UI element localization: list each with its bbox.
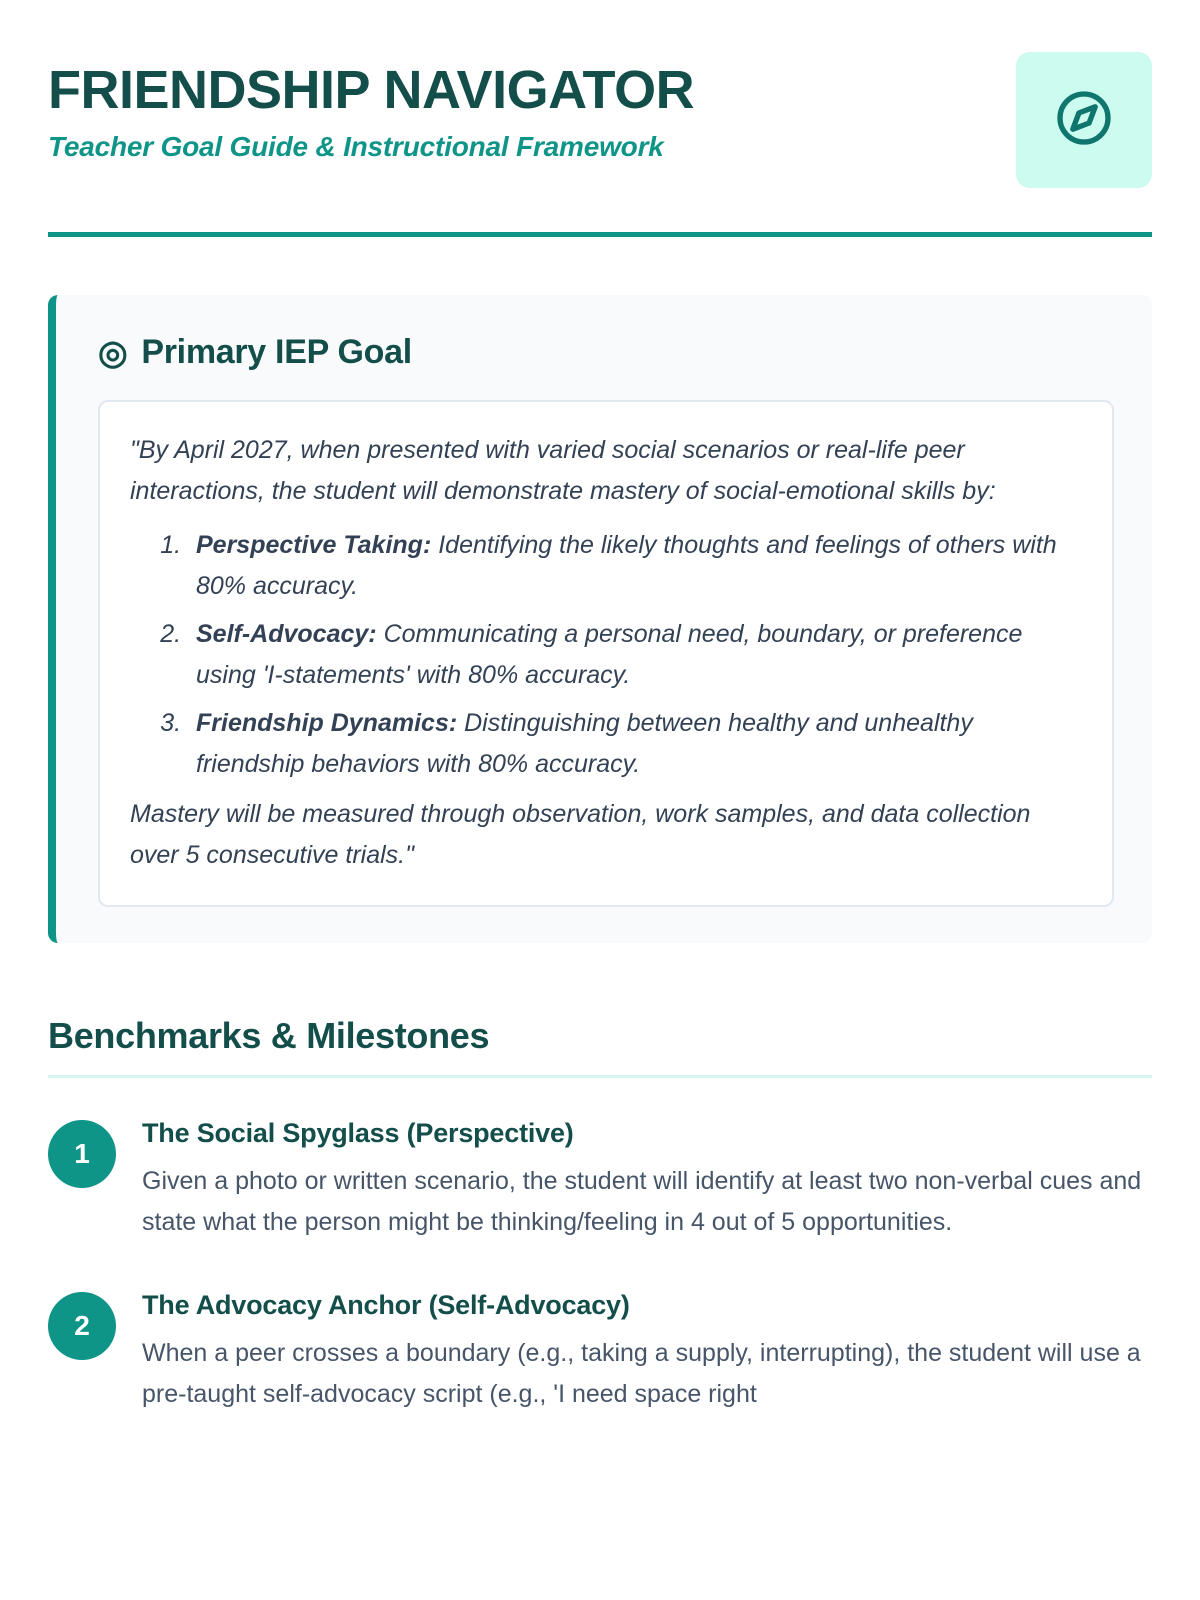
page-header: FRIENDSHIP NAVIGATOR Teacher Goal Guide …	[48, 0, 1152, 188]
goal-skill-item: Friendship Dynamics: Distinguishing betw…	[188, 703, 1082, 784]
header-divider	[48, 232, 1152, 237]
target-icon: ◎	[98, 336, 127, 370]
benchmark-item: 2 The Advocacy Anchor (Self-Advocacy) Wh…	[48, 1290, 1152, 1414]
goal-closing-text: Mastery will be measured through observa…	[130, 794, 1082, 875]
goal-skill-label: Perspective Taking:	[196, 531, 431, 559]
goal-skill-label: Self-Advocacy:	[196, 620, 377, 648]
benchmark-description: When a peer crosses a boundary (e.g., ta…	[142, 1333, 1152, 1414]
goal-card-heading: ◎ Primary IEP Goal	[98, 333, 1114, 372]
benchmarks-heading: Benchmarks & Milestones	[48, 1015, 1152, 1057]
page-root: FRIENDSHIP NAVIGATOR Teacher Goal Guide …	[0, 0, 1200, 1600]
page-subtitle: Teacher Goal Guide & Instructional Frame…	[48, 131, 694, 163]
benchmark-item: 1 The Social Spyglass (Perspective) Give…	[48, 1118, 1152, 1242]
benchmark-title: The Social Spyglass (Perspective)	[142, 1118, 1152, 1149]
goal-skill-list: Perspective Taking: Identifying the like…	[130, 525, 1082, 784]
goal-intro-text: "By April 2027, when presented with vari…	[130, 430, 1082, 511]
benchmark-description: Given a photo or written scenario, the s…	[142, 1161, 1152, 1242]
benchmark-number-badge: 2	[48, 1292, 116, 1360]
goal-card-title-text: Primary IEP Goal	[141, 333, 412, 372]
primary-goal-card: ◎ Primary IEP Goal "By April 2027, when …	[48, 295, 1152, 943]
goal-skill-label: Friendship Dynamics:	[196, 709, 457, 737]
benchmark-title: The Advocacy Anchor (Self-Advocacy)	[142, 1290, 1152, 1321]
compass-icon	[1052, 86, 1116, 155]
benchmark-body: The Social Spyglass (Perspective) Given …	[142, 1118, 1152, 1242]
benchmarks-divider	[48, 1075, 1152, 1078]
goal-skill-item: Perspective Taking: Identifying the like…	[188, 525, 1082, 606]
goal-skill-item: Self-Advocacy: Communicating a personal …	[188, 614, 1082, 695]
benchmark-number-badge: 1	[48, 1120, 116, 1188]
benchmarks-list: 1 The Social Spyglass (Perspective) Give…	[48, 1118, 1152, 1414]
logo-badge	[1016, 52, 1152, 188]
header-text-group: FRIENDSHIP NAVIGATOR Teacher Goal Guide …	[48, 52, 694, 163]
page-title: FRIENDSHIP NAVIGATOR	[48, 62, 694, 119]
goal-quote-box: "By April 2027, when presented with vari…	[98, 400, 1114, 907]
benchmark-body: The Advocacy Anchor (Self-Advocacy) When…	[142, 1290, 1152, 1414]
